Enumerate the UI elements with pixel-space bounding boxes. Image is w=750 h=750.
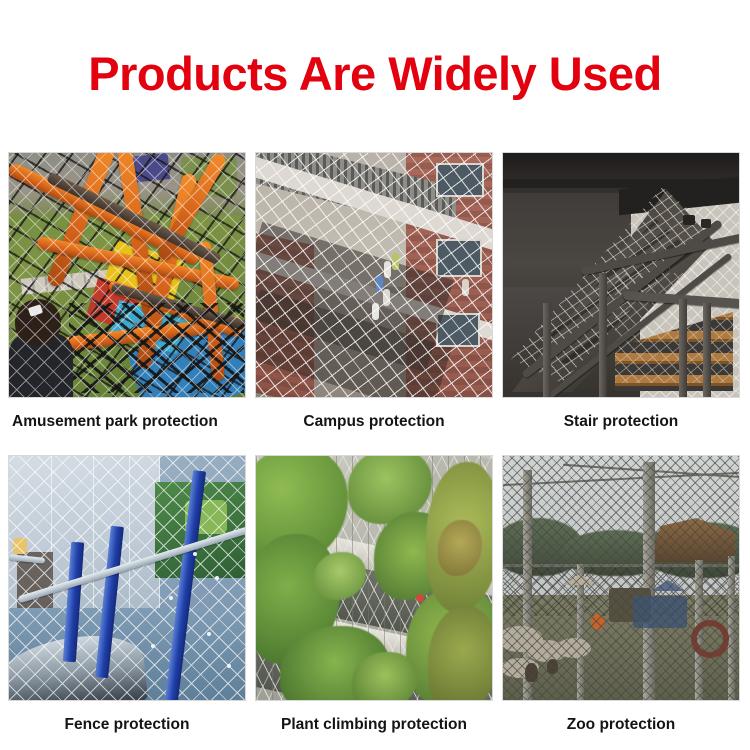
gallery-row: Fence protection <box>8 455 742 749</box>
photo-green-facade-climbing-vines-trellis[interactable] <box>255 455 493 701</box>
gallery-item-caption: Fence protection <box>8 701 246 749</box>
gallery-item-caption: Campus protection <box>255 398 493 446</box>
gallery-item-amusement-park[interactable]: Amusement park protection <box>8 152 246 446</box>
product-application-gallery: Amusement park protection <box>8 152 742 749</box>
gallery-item-zoo[interactable]: Zoo protection <box>502 455 740 749</box>
gallery-row: Amusement park protection <box>8 152 742 446</box>
gallery-item-caption: Amusement park protection <box>8 398 246 446</box>
photo-campus-courtyard-balcony-mesh[interactable] <box>255 152 493 398</box>
gallery-item-campus[interactable]: Campus protection <box>255 152 493 446</box>
photo-industrial-staircase-mesh-railing[interactable] <box>502 152 740 398</box>
gallery-item-plant-climbing[interactable]: Plant climbing protection <box>255 455 493 749</box>
page-title: Products Are Widely Used <box>0 46 750 102</box>
photo-amusement-park-rope-net-playground[interactable] <box>8 152 246 398</box>
gallery-item-stair[interactable]: Stair protection <box>502 152 740 446</box>
gallery-item-caption: Zoo protection <box>502 701 740 749</box>
photo-blue-post-cable-mesh-fence[interactable] <box>8 455 246 701</box>
gallery-item-caption: Stair protection <box>502 398 740 446</box>
photo-zoo-enclosure-mesh-fence-monkeys[interactable] <box>502 455 740 701</box>
gallery-item-fence[interactable]: Fence protection <box>8 455 246 749</box>
gallery-item-caption: Plant climbing protection <box>255 701 493 749</box>
